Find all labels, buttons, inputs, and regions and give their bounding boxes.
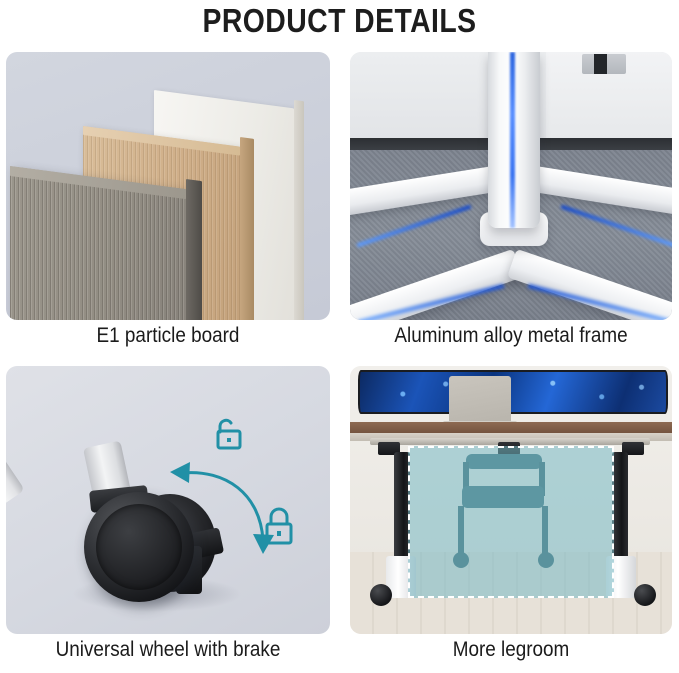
caption-particle-board: E1 particle board (22, 324, 314, 348)
detail-card-aluminum-frame: Aluminum alloy metal frame (350, 52, 672, 352)
table-leg-upper (6, 374, 25, 510)
universal-wheel-image (6, 366, 330, 634)
detail-card-more-legroom: More legroom (350, 366, 672, 666)
detail-card-universal-wheel: Universal wheel with brake (6, 366, 330, 666)
product-details-infographic: PRODUCT DETAILS E1 particle board (0, 0, 679, 673)
gray-board-edge (186, 179, 202, 320)
caption-aluminum-frame: Aluminum alloy metal frame (366, 324, 656, 348)
caption-more-legroom: More legroom (366, 638, 656, 662)
rotation-arrow-icon (156, 436, 286, 561)
page-title: PRODUCT DETAILS (48, 2, 632, 40)
column-blue-highlight (510, 52, 515, 228)
legroom-highlight-area (408, 446, 614, 598)
desk-caster-right (634, 584, 656, 606)
more-legroom-image (350, 366, 672, 634)
monitor (358, 370, 668, 414)
desk-caster-left (370, 584, 392, 606)
aluminum-frame-image (350, 52, 672, 320)
detail-card-particle-board: E1 particle board (6, 52, 330, 352)
white-board-edge (294, 100, 304, 320)
frame-clip (582, 54, 626, 74)
laptop-screen (449, 376, 511, 424)
particle-board-image (6, 52, 330, 320)
oak-board-edge (240, 137, 254, 320)
desk-top (350, 422, 672, 433)
desk-leg-right (612, 452, 628, 562)
caption-universal-wheel: Universal wheel with brake (22, 638, 314, 662)
